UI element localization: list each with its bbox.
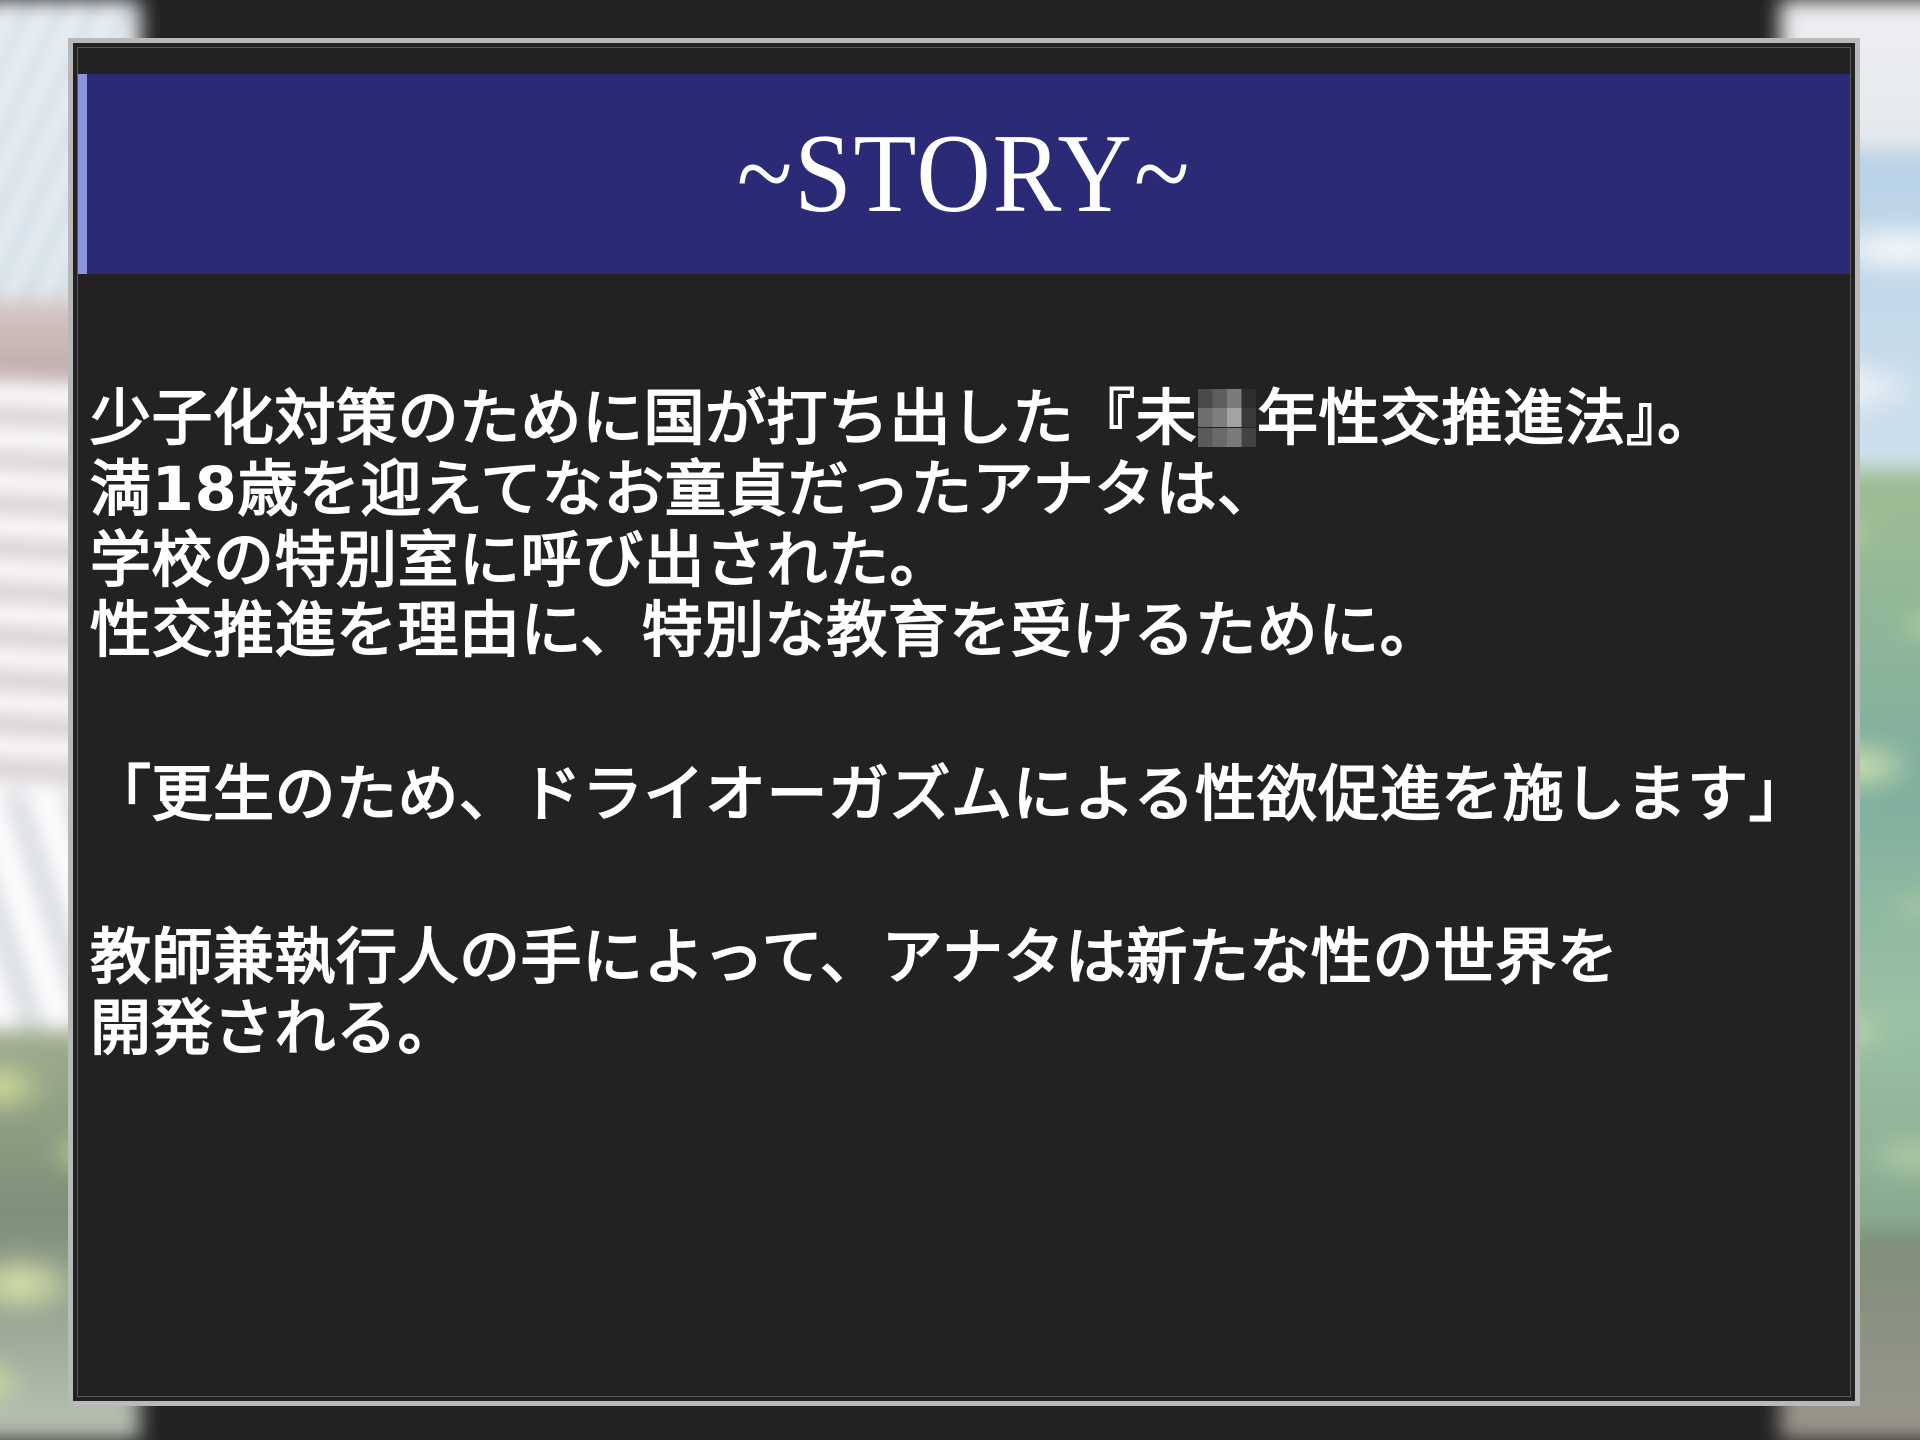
story-slide: ~STORY~ 少子化対策のために国が打ち出した『未年性交推進法』。 満18歳を…: [0, 0, 1920, 1440]
title-banner: ~STORY~: [78, 74, 1850, 274]
story-card: ~STORY~ 少子化対策のために国が打ち出した『未年性交推進法』。 満18歳を…: [68, 38, 1860, 1406]
story-card-inner: ~STORY~ 少子化対策のために国が打ち出した『未年性交推進法』。 満18歳を…: [77, 47, 1851, 1397]
story-paragraph-intro: 少子化対策のために国が打ち出した『未年性交推進法』。 満18歳を迎えてなお童貞だ…: [90, 384, 1838, 667]
story-text-body: 少子化対策のために国が打ち出した『未年性交推進法』。 満18歳を迎えてなお童貞だ…: [78, 384, 1850, 1065]
banner-left-edge-accent: [78, 74, 87, 274]
story-text-run: 「更生のため、ドライオーガズムによる性欲促進を施します」: [90, 759, 1810, 830]
page-title: ~STORY~: [737, 118, 1192, 230]
story-text-run: 少子化対策のために国が打ち出した『未: [90, 383, 1197, 454]
story-paragraph-outro: 教師兼執行人の手によって、アナタは新たな性の世界を 開発される。: [90, 923, 1838, 1065]
censor-mosaic-block: [1198, 389, 1256, 447]
story-text-run: 教師兼執行人の手によって、アナタは新たな性の世界を 開発される。: [90, 922, 1618, 1064]
story-paragraph-quote: 「更生のため、ドライオーガズムによる性欲促進を施します」: [90, 760, 1838, 831]
